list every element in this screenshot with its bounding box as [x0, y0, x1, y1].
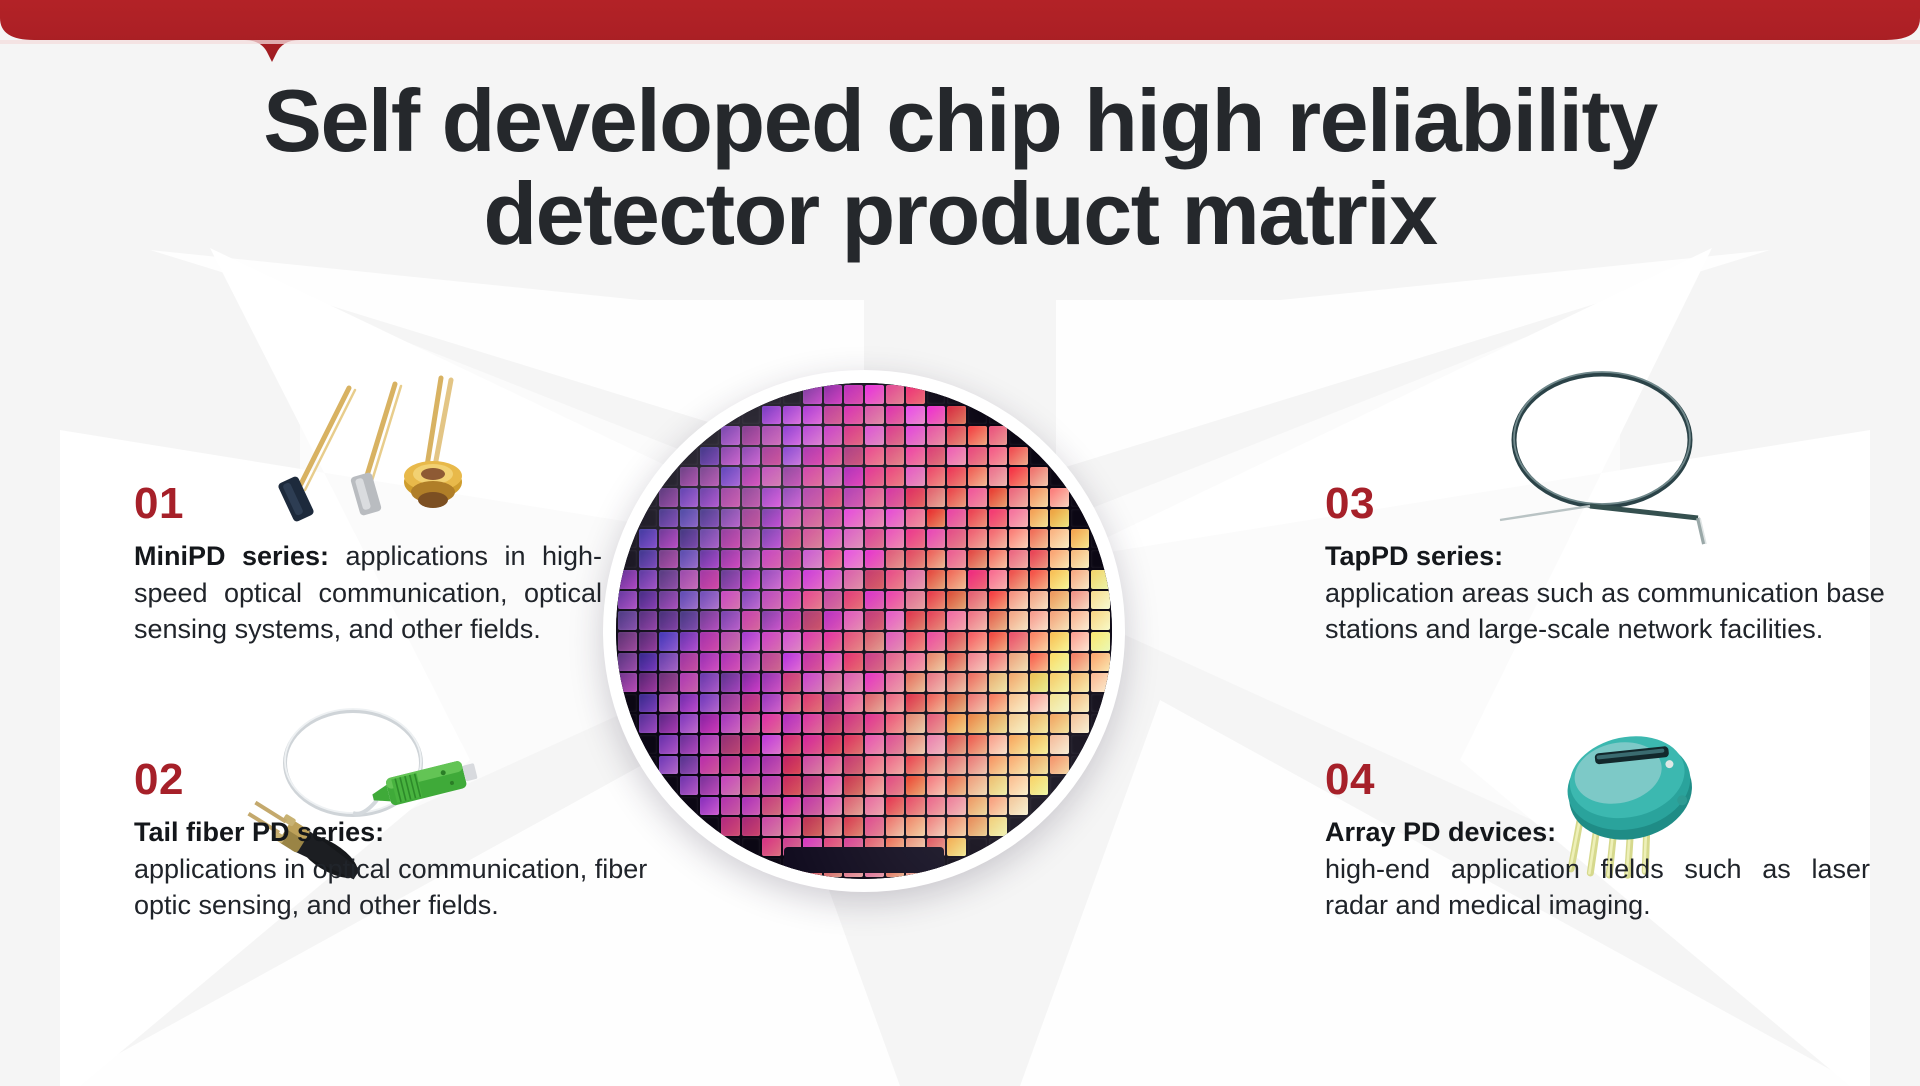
wafer-die: [721, 529, 740, 548]
wafer-die: [721, 632, 740, 651]
wafer-die: [700, 858, 719, 877]
wafer-die: [680, 591, 699, 610]
wafer-die: [721, 817, 740, 836]
wafer-die: [1071, 591, 1090, 610]
wafer-die: [886, 776, 905, 795]
wafer-die: [824, 756, 843, 775]
wafer-die: [1050, 488, 1069, 507]
wafer-die: [680, 611, 699, 630]
wafer-die: [1009, 509, 1028, 528]
wafer-die: [886, 632, 905, 651]
wafer-die: [947, 509, 966, 528]
wafer-die: [1091, 858, 1110, 877]
wafer-die: [927, 714, 946, 733]
wafer-die: [1091, 714, 1110, 733]
wafer-die: [947, 735, 966, 754]
wafer-die: [659, 591, 678, 610]
wafer-die: [968, 776, 987, 795]
wafer-die: [1009, 797, 1028, 816]
wafer-die: [742, 756, 761, 775]
wafer-die: [700, 385, 719, 404]
wafer-die: [947, 694, 966, 713]
wafer-die: [886, 467, 905, 486]
wafer-die: [639, 488, 658, 507]
item-04-array-pd: 04 Array PD devices: high-end applicatio…: [1325, 758, 1870, 924]
wafer-die: [803, 797, 822, 816]
wafer-die: [1091, 611, 1110, 630]
wafer-die: [947, 653, 966, 672]
wafer-die: [927, 550, 946, 569]
wafer-die: [824, 426, 843, 445]
wafer-die: [762, 611, 781, 630]
top-red-banner: [0, 0, 1920, 62]
wafer-die: [1009, 550, 1028, 569]
semiconductor-wafer: [603, 370, 1125, 892]
wafer-die: [700, 735, 719, 754]
wafer-die: [989, 653, 1008, 672]
wafer-die: [783, 776, 802, 795]
wafer-die: [1030, 488, 1049, 507]
wafer-die: [659, 529, 678, 548]
wafer-die: [989, 858, 1008, 877]
wafer-die: [947, 488, 966, 507]
wafer-die: [700, 714, 719, 733]
wafer-die: [803, 673, 822, 692]
wafer-die: [886, 591, 905, 610]
wafer-die: [927, 673, 946, 692]
wafer-die: [783, 447, 802, 466]
wafer-die: [906, 756, 925, 775]
wafer-die: [1091, 550, 1110, 569]
wafer-die: [1071, 838, 1090, 857]
wafer-die: [1071, 447, 1090, 466]
item-02-tail-fiber-pd: 02 Tail fiber PD series: applications in…: [134, 758, 654, 924]
wafer-die: [989, 570, 1008, 589]
wafer-die: [742, 467, 761, 486]
wafer-die: [762, 858, 781, 877]
wafer-die: [680, 406, 699, 425]
wafer-die: [680, 858, 699, 877]
wafer-die: [1050, 529, 1069, 548]
wafer-die: [1009, 447, 1028, 466]
wafer-die: [700, 447, 719, 466]
wafer-die: [762, 756, 781, 775]
wafer-die: [824, 509, 843, 528]
wafer-die: [989, 797, 1008, 816]
wafer-die: [700, 426, 719, 445]
wafer-die: [700, 591, 719, 610]
wafer-die: [844, 776, 863, 795]
wafer-die: [865, 694, 884, 713]
wafer-die: [947, 406, 966, 425]
wafer-die: [1091, 447, 1110, 466]
wafer-die: [865, 611, 884, 630]
wafer-die: [803, 509, 822, 528]
wafer-die: [1091, 591, 1110, 610]
item-01-text: MiniPD series: applications in high-spee…: [134, 538, 602, 648]
wafer-die: [783, 756, 802, 775]
wafer-die: [639, 653, 658, 672]
wafer-die: [947, 673, 966, 692]
wafer-die: [989, 756, 1008, 775]
wafer-die: [886, 735, 905, 754]
wafer-die: [803, 611, 822, 630]
wafer-die: [968, 509, 987, 528]
wafer-die: [947, 858, 966, 877]
wafer-die: [700, 509, 719, 528]
wafer-die: [824, 385, 843, 404]
wafer-die: [927, 591, 946, 610]
wafer-die: [968, 385, 987, 404]
wafer-die: [783, 694, 802, 713]
wafer-die: [824, 653, 843, 672]
wafer-die: [906, 797, 925, 816]
wafer-die: [865, 550, 884, 569]
wafer-die: [1030, 714, 1049, 733]
wafer-die: [989, 817, 1008, 836]
wafer-die: [1030, 426, 1049, 445]
wafer-die: [824, 447, 843, 466]
wafer-die: [886, 509, 905, 528]
item-02-description: applications in optical communication, f…: [134, 854, 647, 921]
wafer-die: [659, 447, 678, 466]
wafer-die: [865, 570, 884, 589]
wafer-die: [1050, 570, 1069, 589]
wafer-die: [968, 756, 987, 775]
wafer-die: [803, 756, 822, 775]
wafer-die: [844, 694, 863, 713]
wafer-die: [906, 467, 925, 486]
wafer-die: [1091, 426, 1110, 445]
wafer-die: [824, 550, 843, 569]
wafer-die: [906, 529, 925, 548]
wafer-die: [721, 714, 740, 733]
wafer-die: [1009, 838, 1028, 857]
wafer-die: [865, 838, 884, 857]
wafer-die: [680, 488, 699, 507]
wafer-die: [1050, 467, 1069, 486]
wafer-die: [927, 858, 946, 877]
wafer-die: [1071, 714, 1090, 733]
wafer-die: [968, 673, 987, 692]
wafer-die: [968, 447, 987, 466]
wafer-die: [803, 447, 822, 466]
wafer-die: [721, 591, 740, 610]
wafer-die: [1009, 426, 1028, 445]
wafer-die: [721, 694, 740, 713]
wafer-die: [742, 426, 761, 445]
wafer-die: [659, 488, 678, 507]
wafer-die: [742, 385, 761, 404]
wafer-die: [947, 756, 966, 775]
wafer-die: [989, 673, 1008, 692]
wafer-die: [865, 714, 884, 733]
wafer-die: [968, 817, 987, 836]
wafer-die: [680, 447, 699, 466]
wafer-die: [947, 591, 966, 610]
wafer-die: [1050, 550, 1069, 569]
wafer-die: [659, 550, 678, 569]
wafer-die: [762, 632, 781, 651]
wafer-die: [680, 797, 699, 816]
wafer-die: [1071, 529, 1090, 548]
wafer-die: [1071, 673, 1090, 692]
wafer-die: [700, 467, 719, 486]
wafer-die: [824, 570, 843, 589]
wafer-die: [968, 694, 987, 713]
wafer-die: [906, 735, 925, 754]
wafer-die: [1009, 653, 1028, 672]
wafer-die: [659, 385, 678, 404]
wafer-die: [783, 509, 802, 528]
wafer-die: [1050, 858, 1069, 877]
wafer-die: [886, 838, 905, 857]
wafer-die: [968, 426, 987, 445]
wafer-die: [1091, 694, 1110, 713]
wafer-die: [700, 756, 719, 775]
wafer-die: [700, 817, 719, 836]
wafer-die: [721, 797, 740, 816]
wafer-die: [803, 529, 822, 548]
wafer-die: [989, 385, 1008, 404]
wafer-die: [886, 797, 905, 816]
wafer-die: [618, 529, 637, 548]
wafer-die: [906, 447, 925, 466]
wafer-die: [639, 591, 658, 610]
wafer-die: [803, 426, 822, 445]
wafer-die: [927, 756, 946, 775]
wafer-die: [762, 529, 781, 548]
item-01-number: 01: [134, 482, 602, 526]
wafer-die: [989, 838, 1008, 857]
wafer-die: [742, 673, 761, 692]
wafer-die: [1091, 817, 1110, 836]
wafer-die: [1030, 735, 1049, 754]
wafer-die: [803, 776, 822, 795]
wafer-die: [721, 570, 740, 589]
wafer-die: [1009, 467, 1028, 486]
item-04-number: 04: [1325, 758, 1870, 802]
wafer-die: [865, 673, 884, 692]
wafer-die: [762, 714, 781, 733]
wafer-die: [1030, 570, 1049, 589]
wafer-die: [680, 735, 699, 754]
wafer-die: [700, 673, 719, 692]
wafer-die: [824, 406, 843, 425]
wafer-die: [844, 611, 863, 630]
wafer-die: [1030, 529, 1049, 548]
wafer-die: [742, 632, 761, 651]
wafer-die: [721, 838, 740, 857]
wafer-die: [927, 529, 946, 548]
wafer-die: [639, 570, 658, 589]
wafer-die: [783, 797, 802, 816]
wafer-die: [762, 838, 781, 857]
wafer-die: [1050, 447, 1069, 466]
wafer-die: [989, 611, 1008, 630]
wafer-die: [886, 385, 905, 404]
wafer-die: [762, 694, 781, 713]
wafer-die: [989, 426, 1008, 445]
wafer-die: [1050, 797, 1069, 816]
wafer-die: [1009, 406, 1028, 425]
wafer-die: [762, 447, 781, 466]
wafer-die: [947, 529, 966, 548]
wafer-die: [659, 426, 678, 445]
wafer-die: [968, 467, 987, 486]
wafer-die: [1009, 611, 1028, 630]
wafer-die: [989, 447, 1008, 466]
wafer-die: [1050, 714, 1069, 733]
wafer-die: [947, 467, 966, 486]
wafer-die: [947, 838, 966, 857]
wafer-die: [886, 694, 905, 713]
item-03-description: application areas such as communication …: [1325, 578, 1885, 645]
wafer-die: [721, 611, 740, 630]
wafer-die: [824, 611, 843, 630]
wafer-die: [927, 694, 946, 713]
wafer-die: [742, 550, 761, 569]
wafer-die: [700, 838, 719, 857]
wafer-die: [1071, 694, 1090, 713]
wafer-die: [865, 797, 884, 816]
wafer-die: [824, 817, 843, 836]
wafer-die: [803, 385, 822, 404]
wafer-die: [824, 797, 843, 816]
page-title-line-2: detector product matrix: [0, 167, 1920, 260]
wafer-die: [680, 632, 699, 651]
wafer-die: [762, 550, 781, 569]
wafer-die: [1050, 591, 1069, 610]
wafer-die: [886, 673, 905, 692]
wafer-die: [824, 632, 843, 651]
wafer-die: [886, 756, 905, 775]
wafer-die: [639, 385, 658, 404]
wafer-die: [865, 756, 884, 775]
wafer-die: [927, 838, 946, 857]
wafer-die: [1071, 426, 1090, 445]
wafer-die: [742, 653, 761, 672]
wafer-die: [844, 653, 863, 672]
wafer-die: [824, 673, 843, 692]
wafer-die: [1050, 653, 1069, 672]
wafer-die: [1030, 653, 1049, 672]
wafer-die: [886, 570, 905, 589]
wafer-die: [927, 447, 946, 466]
wafer-die: [1050, 776, 1069, 795]
wafer-die: [1009, 714, 1028, 733]
wafer-die: [865, 406, 884, 425]
wafer-die: [886, 488, 905, 507]
wafer-die: [762, 467, 781, 486]
wafer-die: [1009, 756, 1028, 775]
wafer-die: [700, 653, 719, 672]
wafer-die: [803, 591, 822, 610]
wafer-die: [1009, 858, 1028, 877]
wafer-die: [803, 858, 822, 877]
wafer-die: [927, 570, 946, 589]
wafer-die: [700, 529, 719, 548]
wafer-die: [1030, 673, 1049, 692]
wafer-die: [659, 653, 678, 672]
wafer-die: [700, 611, 719, 630]
wafer-die: [906, 838, 925, 857]
wafer-die: [1030, 550, 1049, 569]
wafer-die: [1009, 385, 1028, 404]
wafer-die: [762, 385, 781, 404]
wafer-die: [783, 714, 802, 733]
wafer-die: [865, 529, 884, 548]
wafer-die: [680, 653, 699, 672]
wafer-die: [742, 817, 761, 836]
wafer-die: [742, 735, 761, 754]
wafer-die: [947, 550, 966, 569]
wafer-die: [639, 509, 658, 528]
item-02-number: 02: [134, 758, 654, 802]
wafer-die: [824, 694, 843, 713]
wafer-die: [844, 488, 863, 507]
wafer-die: [927, 611, 946, 630]
wafer-die: [680, 509, 699, 528]
wafer-die: [1009, 488, 1028, 507]
wafer-die: [639, 550, 658, 569]
wafer-die: [886, 653, 905, 672]
wafer-die: [824, 714, 843, 733]
wafer-die: [1030, 838, 1049, 857]
wafer-die: [1030, 385, 1049, 404]
wafer-die: [865, 488, 884, 507]
wafer-die: [1071, 735, 1090, 754]
wafer-die: [639, 632, 658, 651]
wafer-die: [968, 406, 987, 425]
wafer-die: [639, 447, 658, 466]
wafer-die: [618, 735, 637, 754]
wafer-die: [1050, 756, 1069, 775]
wafer-die: [1071, 797, 1090, 816]
wafer-die: [618, 714, 637, 733]
wafer-die: [927, 776, 946, 795]
wafer-die: [700, 797, 719, 816]
wafer-die: [865, 817, 884, 836]
wafer-die: [1009, 735, 1028, 754]
wafer-die: [1071, 570, 1090, 589]
wafer-die: [1071, 488, 1090, 507]
wafer-die: [824, 858, 843, 877]
wafer-die: [1091, 570, 1110, 589]
wafer-die: [762, 426, 781, 445]
wafer-die: [886, 817, 905, 836]
wafer-die: [700, 570, 719, 589]
wafer-die: [947, 447, 966, 466]
wafer-die: [865, 776, 884, 795]
wafer-die: [906, 611, 925, 630]
wafer-die: [803, 488, 822, 507]
wafer-die: [783, 632, 802, 651]
wafer-die: [1091, 838, 1110, 857]
wafer-die: [989, 509, 1008, 528]
wafer-die: [1091, 632, 1110, 651]
wafer-die: [989, 406, 1008, 425]
wafer-die: [1091, 735, 1110, 754]
wafer-die: [1030, 632, 1049, 651]
wafer-die: [989, 714, 1008, 733]
wafer-die: [906, 406, 925, 425]
wafer-die: [700, 694, 719, 713]
wafer-die: [742, 776, 761, 795]
wafer-die: [639, 406, 658, 425]
wafer-die: [783, 550, 802, 569]
wafer-die: [989, 591, 1008, 610]
